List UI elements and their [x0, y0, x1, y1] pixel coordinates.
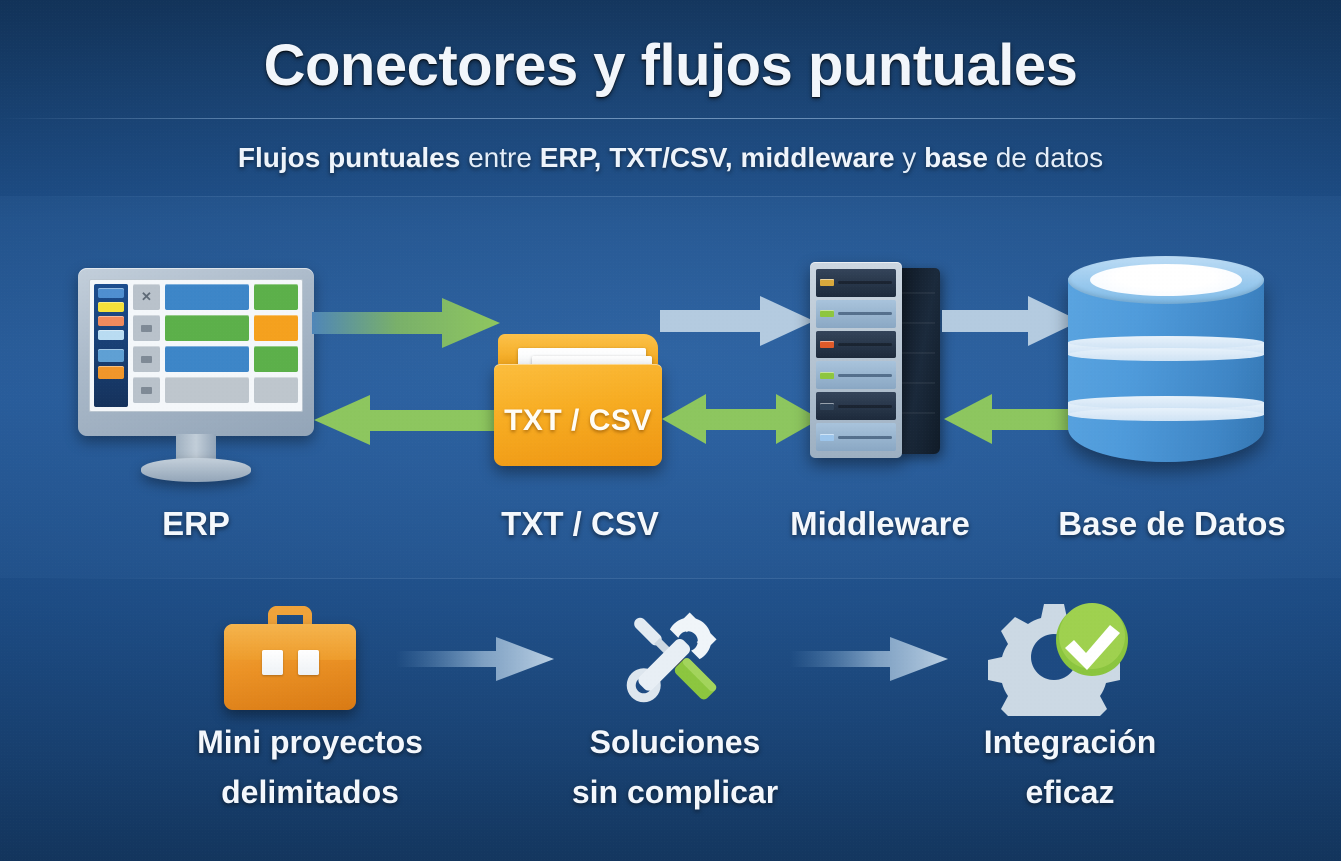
erp-screen-row: ✕ — [133, 284, 298, 310]
subtitle-run: entre — [460, 142, 539, 173]
subtitle-run: y — [895, 142, 925, 173]
erp-monitor-icon: ✕ — [78, 268, 314, 493]
page-title: Conectores y flujos puntuales — [0, 32, 1341, 99]
server-front-panel — [810, 262, 902, 458]
caption-line-2: eficaz — [900, 768, 1240, 818]
benefit-captions: Mini proyectos delimitados Soluciones si… — [0, 718, 1341, 838]
folder-badge-label: TXT / CSV — [494, 404, 662, 438]
erp-screen-row — [133, 346, 298, 372]
caption-line-1: Soluciones — [500, 718, 850, 768]
flow-label-txtcsv: TXT / CSV — [470, 505, 690, 543]
benefit-arrow-1 — [396, 632, 556, 686]
database-cylinder-icon — [1068, 256, 1264, 482]
caption-line-1: Integración — [900, 718, 1240, 768]
check-badge — [1056, 603, 1128, 676]
database-top-inner — [1090, 264, 1242, 296]
caption-line-2: sin complicar — [500, 768, 850, 818]
erp-screen-row — [133, 315, 298, 341]
flow-band-top-divider — [40, 196, 1301, 197]
database-body — [1068, 278, 1264, 462]
subtitle-run: de datos — [988, 142, 1103, 173]
subtitle-run: ERP, TXT/CSV, middleware — [540, 142, 895, 173]
server-bay — [816, 269, 896, 297]
page-subtitle: Flujos puntuales entre ERP, TXT/CSV, mid… — [0, 142, 1341, 174]
arrow-database-to-middleware — [942, 390, 1082, 448]
flow-label-middleware: Middleware — [760, 505, 1000, 543]
arrow-erp-to-txtcsv — [312, 296, 502, 350]
briefcase-clasp — [298, 650, 319, 675]
flow-labels: ERP TXT / CSV Middleware Base de Datos — [0, 505, 1341, 565]
flow-label-database: Base de Datos — [1032, 505, 1312, 543]
erp-screen-row — [133, 377, 298, 403]
flow-band-bottom-divider — [40, 578, 1301, 579]
middleware-server-icon — [810, 262, 946, 462]
briefcase-flap — [224, 624, 356, 660]
server-bay — [816, 392, 896, 420]
server-bay — [816, 300, 896, 328]
list-icon — [133, 377, 160, 403]
infographic-poster: Conectores y flujos puntuales Flujos pun… — [0, 0, 1341, 861]
briefcase-clasp — [262, 650, 283, 675]
subtitle-run: Flujos puntuales — [238, 142, 460, 173]
database-top — [1068, 256, 1264, 304]
list-icon — [133, 346, 160, 372]
server-bay — [816, 331, 896, 359]
erp-screen-sidebar — [94, 284, 128, 407]
arrow-txtcsv-middleware-bidirectional — [660, 390, 822, 448]
caption-line-2: delimitados — [130, 768, 490, 818]
flow-label-erp: ERP — [96, 505, 296, 543]
flow-diagram: ✕ — [0, 250, 1341, 510]
txtcsv-folder-icon: TXT / CSV — [494, 334, 664, 470]
caption-line-1: Mini proyectos — [130, 718, 490, 768]
close-icon: ✕ — [133, 284, 160, 310]
monitor-base — [141, 458, 251, 482]
header-divider — [0, 118, 1341, 119]
benefit-caption-mini-proyectos: Mini proyectos delimitados — [130, 718, 490, 817]
tools-icon — [604, 602, 740, 712]
benefit-caption-soluciones: Soluciones sin complicar — [500, 718, 850, 817]
server-bay — [816, 423, 896, 451]
subtitle-run: base — [924, 142, 988, 173]
list-icon — [133, 315, 160, 341]
gear-check-icon — [986, 598, 1136, 716]
benefit-caption-integracion: Integración eficaz — [900, 718, 1240, 817]
database-band — [1068, 402, 1264, 415]
database-band — [1068, 342, 1264, 355]
arrow-middleware-to-database — [942, 294, 1082, 348]
benefit-arrow-2 — [790, 632, 950, 686]
server-bay — [816, 361, 896, 389]
monitor-bezel: ✕ — [78, 268, 314, 436]
erp-screen-grid: ✕ — [133, 284, 298, 407]
monitor-screen: ✕ — [89, 279, 303, 412]
briefcase-icon — [224, 606, 356, 710]
arrow-txtcsv-to-middleware — [660, 294, 816, 348]
